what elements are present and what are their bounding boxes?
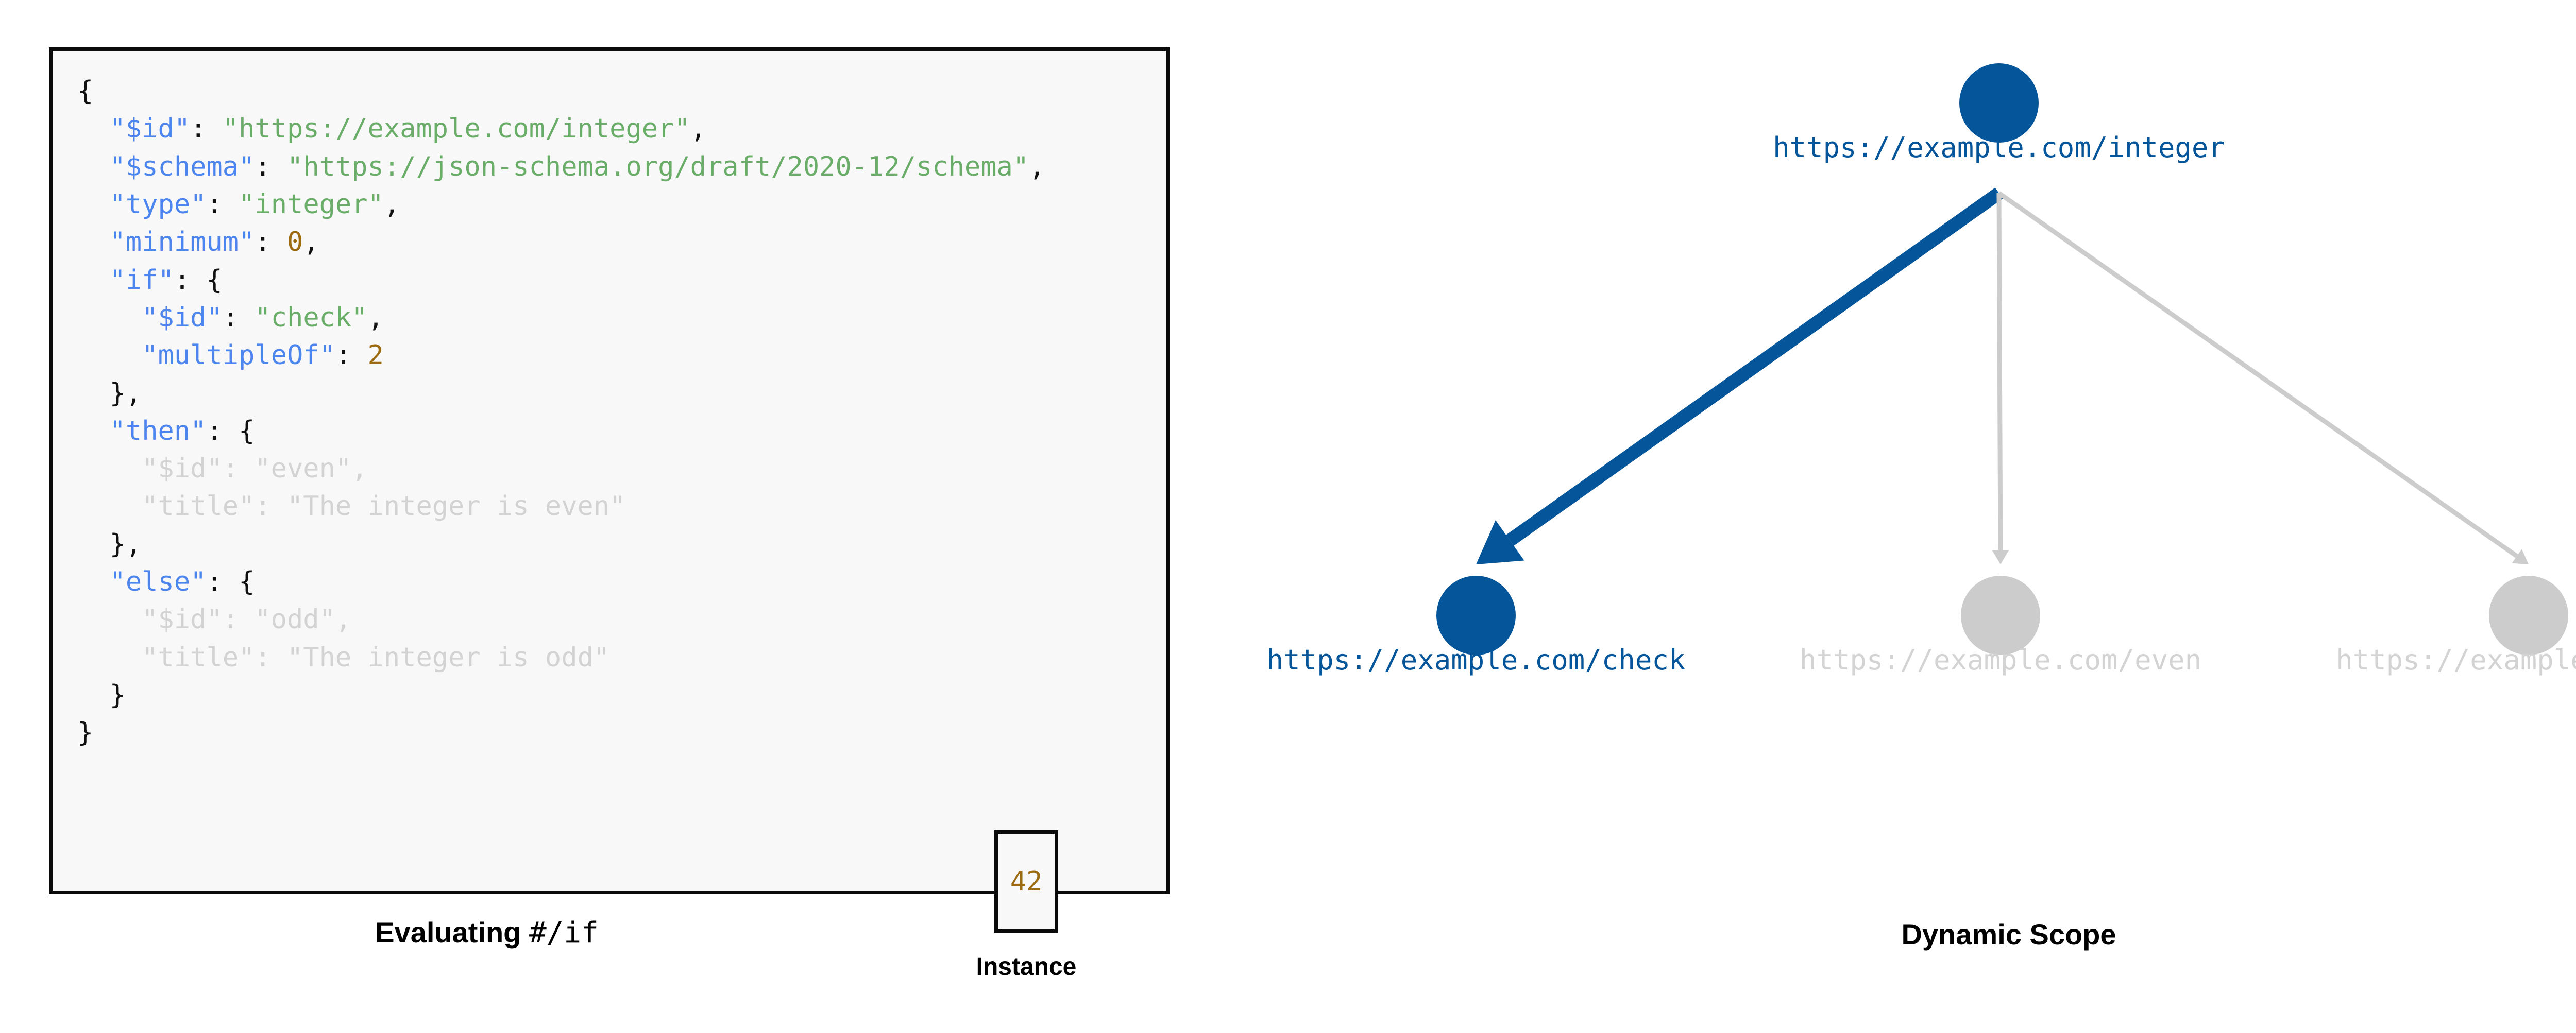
code-token-punct: } [77, 680, 126, 711]
code-token-dim: "$id": "odd", [77, 604, 351, 635]
code-line: }, [77, 375, 1166, 412]
code-token-punct: , [368, 302, 384, 333]
edge-integer-to-even [1992, 193, 2009, 564]
code-token-punct [77, 416, 110, 446]
code-token-dim: "title": "The integer is even" [77, 491, 625, 522]
code-line: "else": { [77, 563, 1166, 601]
code-token-punct [77, 302, 142, 333]
code-token-punct: , [690, 113, 706, 144]
code-token-punct: }, [77, 529, 142, 560]
code-line: "$id": "check", [77, 299, 1166, 337]
code-token-key: "$id" [142, 302, 223, 333]
edge-integer-to-check [1476, 193, 1999, 564]
code-token-key: "type" [110, 189, 207, 220]
schema-code-box: { "$id": "https://example.com/integer", … [49, 47, 1170, 894]
code-line: "title": "The integer is even" [77, 488, 1166, 525]
code-line: "type": "integer", [77, 186, 1166, 223]
code-token-string: "integer" [239, 189, 384, 220]
scope-node-label-integer: https://example.com/integer [1773, 131, 2225, 164]
scope-node-label-odd: https://example.com/odd [2336, 644, 2576, 676]
edge-line [1999, 193, 2517, 556]
code-line: "$schema": "https://json-schema.org/draf… [77, 148, 1166, 186]
code-token-punct: : [223, 302, 255, 333]
edge-layer [1476, 193, 2529, 564]
code-token-dim: "$id": "even", [77, 453, 368, 484]
scope-node-integer[interactable] [1959, 63, 2039, 143]
code-token-dim: "title": "The integer is odd" [77, 642, 609, 673]
code-token-punct: : { [206, 416, 255, 446]
code-token-punct: }, [77, 378, 142, 409]
code-token-punct: , [303, 227, 319, 257]
scope-node-even[interactable] [1961, 576, 2040, 655]
edge-line [1999, 193, 2001, 550]
code-token-punct: : [206, 189, 239, 220]
scope-node-odd[interactable] [2489, 576, 2568, 655]
schema-code-listing: { "$id": "https://example.com/integer", … [53, 51, 1166, 752]
evaluating-caption-prefix: Evaluating [375, 916, 529, 949]
edge-integer-to-odd [1999, 193, 2529, 564]
code-line: "$id": "odd", [77, 601, 1166, 639]
code-token-punct: , [1029, 151, 1045, 182]
code-token-number: 0 [287, 227, 303, 257]
code-token-punct [77, 189, 110, 220]
code-line: } [77, 677, 1166, 714]
instance-box: 42 [994, 830, 1058, 933]
code-token-punct: : [255, 151, 287, 182]
code-line: "multipleOf": 2 [77, 337, 1166, 374]
code-token-punct: } [77, 717, 93, 748]
code-token-punct: : [190, 113, 223, 144]
code-token-punct: : [255, 227, 287, 257]
code-token-punct: , [384, 189, 400, 220]
edge-arrowhead-icon [1992, 550, 2009, 564]
code-line: "then": { [77, 412, 1166, 450]
scope-node-check[interactable] [1436, 576, 1516, 655]
code-token-key: "minimum" [110, 227, 255, 257]
code-token-punct [77, 566, 110, 597]
code-line: "minimum": 0, [77, 223, 1166, 261]
code-line: "title": "The integer is odd" [77, 639, 1166, 677]
schema-panel: { "$id": "https://example.com/integer", … [0, 0, 1185, 1033]
code-line: "$id": "https://example.com/integer", [77, 110, 1166, 148]
code-line: "$id": "even", [77, 450, 1166, 488]
code-token-number: 2 [368, 340, 384, 371]
code-line: { [77, 73, 1166, 110]
code-token-punct: { [77, 76, 93, 107]
code-token-key: "multipleOf" [142, 340, 335, 371]
code-token-punct [77, 151, 110, 182]
dynamic-scope-caption: Dynamic Scope [1185, 918, 2576, 951]
code-token-punct: : { [174, 265, 223, 296]
code-token-string: "https://json-schema.org/draft/2020-12/s… [287, 151, 1029, 182]
instance-caption: Instance [918, 953, 1134, 981]
scope-node-label-even: https://example.com/even [1800, 644, 2201, 676]
code-token-key: "then" [110, 416, 207, 446]
scope-node-label-check: https://example.com/check [1267, 644, 1686, 676]
code-token-punct: : [335, 340, 368, 371]
code-token-string: "https://example.com/integer" [223, 113, 690, 144]
code-token-key: "$schema" [110, 151, 255, 182]
code-token-key: "$id" [110, 113, 191, 144]
edge-line [1510, 193, 1999, 540]
code-token-punct: : { [206, 566, 255, 597]
code-line: "if": { [77, 262, 1166, 299]
code-line: }, [77, 526, 1166, 563]
dynamic-scope-panel: https://example.com/integerhttps://examp… [1185, 0, 2576, 1033]
evaluating-caption: Evaluating #/if [0, 916, 974, 950]
code-token-punct [77, 113, 110, 144]
code-token-punct [77, 227, 110, 257]
code-line: } [77, 714, 1166, 752]
evaluating-caption-pointer: #/if [529, 916, 599, 950]
code-token-punct [77, 265, 110, 296]
code-token-key: "else" [110, 566, 207, 597]
instance-value: 42 [1010, 866, 1043, 897]
code-token-string: "check" [255, 302, 367, 333]
code-token-key: "if" [110, 265, 174, 296]
code-token-punct [77, 340, 142, 371]
